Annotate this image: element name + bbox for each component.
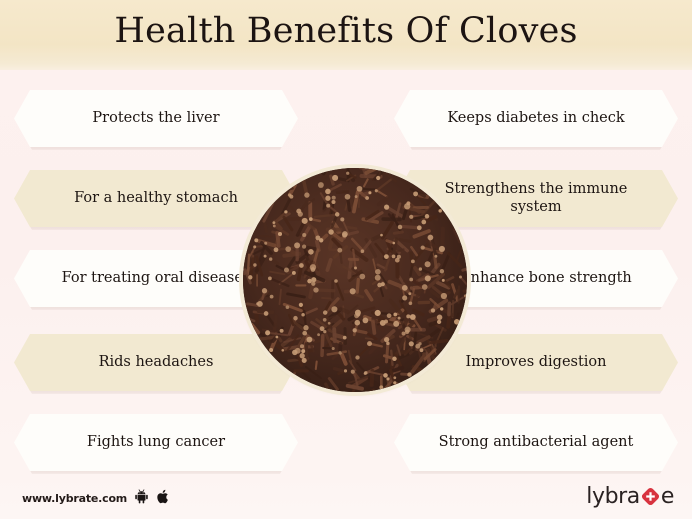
apple-icon[interactable] xyxy=(156,489,169,508)
benefit-row-left-2: For a healthy stomach xyxy=(14,170,298,227)
benefit-row-left-4: Rids headaches xyxy=(14,334,298,391)
benefit-label: Rids headaches xyxy=(73,354,240,372)
logo-text-prefix: lybra xyxy=(586,486,640,508)
infographic-poster: Health Benefits Of Cloves Protects the l… xyxy=(0,0,692,519)
site-url[interactable]: www.lybrate.com xyxy=(22,492,127,505)
benefit-row-left-5: Fights lung cancer xyxy=(14,414,298,471)
benefit-row-right-5: Strong antibacterial agent xyxy=(394,414,678,471)
android-icon[interactable] xyxy=(134,489,149,508)
footer-left-group: www.lybrate.com xyxy=(22,489,169,508)
benefit-row-left-1: Protects the liver xyxy=(14,90,298,147)
benefit-row-right-1: Keeps diabetes in check xyxy=(394,90,678,147)
lybrate-logo[interactable]: lybra e xyxy=(586,485,674,508)
benefit-label: Fights lung cancer xyxy=(61,434,251,452)
benefit-banner[interactable]: For a healthy stomach xyxy=(14,170,298,227)
benefit-label: Strong antibacterial agent xyxy=(413,434,660,452)
benefit-label: For treating oral diseases xyxy=(36,270,277,288)
benefit-label: For a healthy stomach xyxy=(48,190,264,208)
benefit-banner[interactable]: Strong antibacterial agent xyxy=(394,414,678,471)
benefit-banner[interactable]: Keeps diabetes in check xyxy=(394,90,678,147)
benefit-banner[interactable]: Rids headaches xyxy=(14,334,298,391)
page-title: Health Benefits Of Cloves xyxy=(0,11,692,51)
benefit-label: Protects the liver xyxy=(66,110,245,128)
benefit-label: Improves digestion xyxy=(440,354,633,372)
red-diamond-plus-icon xyxy=(641,487,660,510)
benefit-label: Keeps diabetes in check xyxy=(421,110,650,128)
cloves-photo xyxy=(243,168,467,392)
benefit-banner[interactable]: Protects the liver xyxy=(14,90,298,147)
logo-text-suffix: e xyxy=(661,486,674,508)
benefit-banner[interactable]: Fights lung cancer xyxy=(14,414,298,471)
